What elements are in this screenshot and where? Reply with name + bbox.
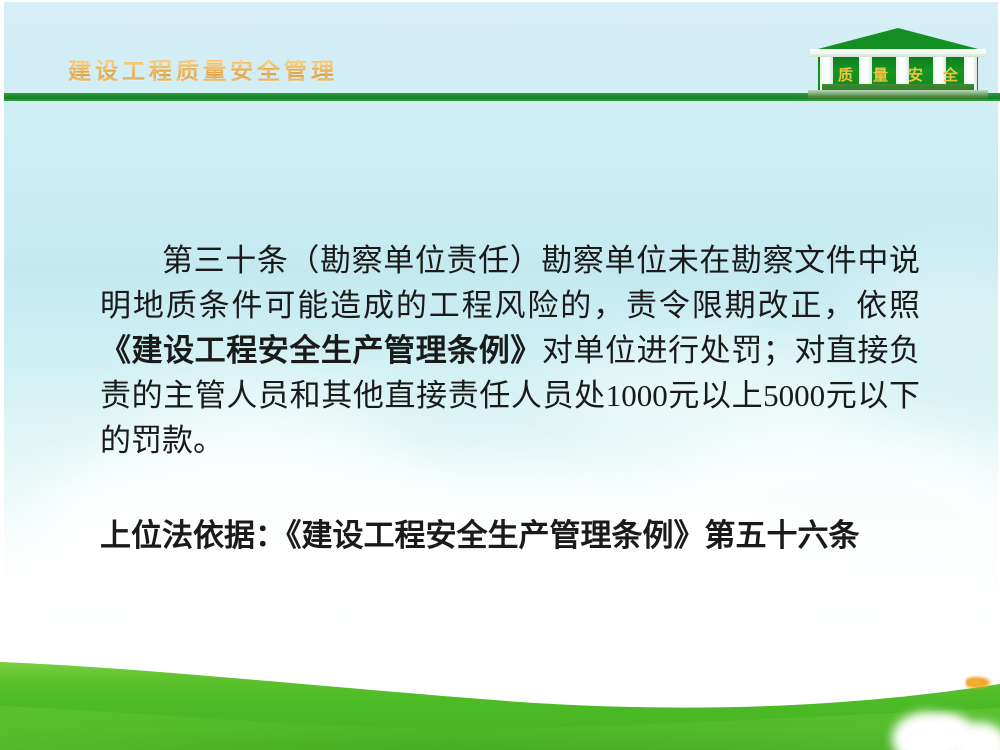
main-paragraph-regulation: 《建设工程安全生产管理条例》 — [100, 333, 542, 368]
basis-paragraph: 上位法依据：《建设工程安全生产管理条例》第五十六条 — [100, 513, 920, 558]
temple-logo-icon: 质 量 安 全 — [808, 28, 988, 100]
basis-label: 上位法依据： — [100, 518, 286, 553]
foot-cloud-icon — [930, 714, 972, 748]
slide-header: 建设工程质量安全管理 质 量 安 全 — [0, 0, 1000, 102]
basis-regulation: 《建设工程安全生产管理条例》 — [286, 518, 705, 553]
main-paragraph-part-1: 第三十条（勘察单位责任）勘察单位未在勘察文件中说明地质条件可能造成的工程风险的，… — [100, 243, 920, 323]
main-paragraph: 第三十条（勘察单位责任）勘察单位未在勘察文件中说明地质条件可能造成的工程风险的，… — [100, 238, 920, 463]
flower-icon — [966, 676, 992, 689]
temple-architrave-icon — [810, 49, 986, 57]
grass-hill-decoration — [0, 610, 1000, 750]
slide-content: 第三十条（勘察单位责任）勘察单位未在勘察文件中说明地质条件可能造成的工程风险的，… — [100, 238, 920, 558]
page-title: 建设工程质量安全管理 — [68, 60, 338, 83]
grass-hill-svg — [0, 610, 1000, 750]
basis-article: 第五十六条 — [705, 518, 860, 553]
slide-canvas: 建设工程质量安全管理 质 量 安 全 第三十条（勘 — [0, 0, 1000, 750]
temple-base-icon — [808, 90, 988, 99]
temple-roof-icon — [814, 28, 982, 50]
